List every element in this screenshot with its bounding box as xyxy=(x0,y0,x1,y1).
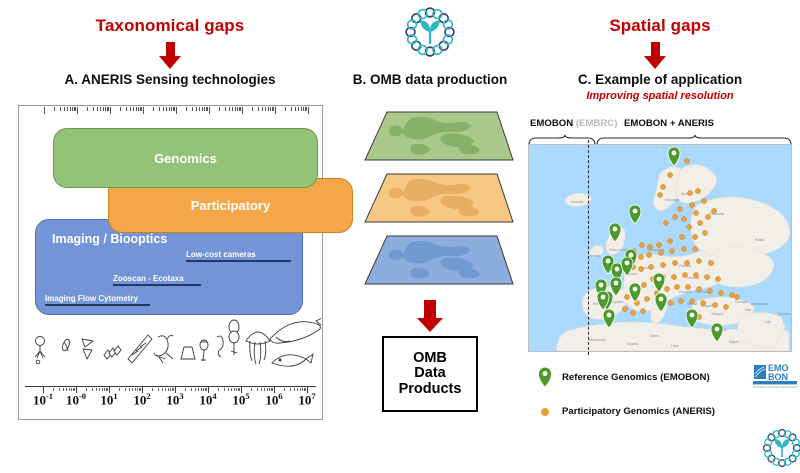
ruler-minor-tick xyxy=(100,107,101,111)
ruler-minor-tick xyxy=(204,107,205,111)
ruler-minor-tick xyxy=(258,107,259,111)
svg-text:Turkmenistán: Turkmenistán xyxy=(777,312,791,316)
ruler-minor-tick xyxy=(192,107,193,111)
ruler-tick xyxy=(77,107,78,114)
svg-text:Irak: Irak xyxy=(745,308,751,312)
map-legend: Reference Genomics (EMOBON) EMO BON xyxy=(538,362,788,432)
organism-salp xyxy=(229,320,239,355)
panel-a-sensing-technologies: Taxonomical gaps A. ANERIS Sensing techn… xyxy=(0,0,340,450)
bracket-label-embrc-muted: (EMBRC) xyxy=(576,118,618,129)
ruler-minor-tick xyxy=(87,107,88,111)
ruler-minor-tick xyxy=(229,107,230,111)
emobon-logo: EMO BON EUROPEAN MARINE OMICS BIODIVERSI… xyxy=(752,362,798,395)
sub-item-zooscan-ecotaxa-label: Zooscan - Ecotaxa xyxy=(113,274,205,283)
ruler-minor-tick xyxy=(219,107,220,111)
organism-appendicularian xyxy=(200,340,208,361)
map-canvas: Islandia Reino Unido Irlanda Noruega Sue… xyxy=(529,145,791,351)
ruler-minor-tick xyxy=(93,107,94,111)
axis-label-1: 10-0 xyxy=(66,391,86,408)
sub-item-zooscan-ecotaxa: Zooscan - Ecotaxa xyxy=(113,274,205,286)
svg-text:Argelia: Argelia xyxy=(627,342,638,346)
ruler-minor-tick xyxy=(153,107,154,111)
ruler-minor-tick xyxy=(237,107,238,111)
omb-flow-arrow xyxy=(417,300,443,332)
organism-silhouettes xyxy=(20,311,321,383)
ruler-minor-tick xyxy=(268,107,269,111)
axis-label-7: 106 xyxy=(265,391,282,408)
ruler-minor-tick xyxy=(235,107,236,111)
ruler-minor-tick xyxy=(285,107,286,111)
europe-sampling-map[interactable]: Islandia Reino Unido Irlanda Noruega Sue… xyxy=(528,144,792,352)
taxonomical-gaps-arrow xyxy=(159,42,181,69)
sub-item-imaging-flow-cytometry: Imaging Flow Cytometry xyxy=(45,294,155,306)
axis-label-2: 101 xyxy=(100,391,117,408)
aneris-logo-legend xyxy=(762,428,800,473)
ruler-minor-tick xyxy=(171,107,172,111)
organism-fish-larva xyxy=(217,336,223,357)
ruler-minor-tick xyxy=(103,107,104,111)
chart-x-axis xyxy=(25,386,316,387)
panel-b-omb-data-production: B. OMB data production xyxy=(340,0,520,450)
ruler-tick xyxy=(44,107,45,114)
orange-map-layer xyxy=(345,172,515,228)
ruler-tick xyxy=(209,107,210,114)
omb-map-layers xyxy=(340,110,520,290)
svg-text:Libia: Libia xyxy=(671,344,679,348)
chart-top-ruler xyxy=(20,107,321,115)
ruler-minor-tick xyxy=(136,107,137,111)
ruler-tick xyxy=(308,107,309,114)
ruler-minor-tick xyxy=(105,107,106,111)
organism-bacteria xyxy=(61,338,71,351)
ruler-minor-tick xyxy=(169,107,170,111)
sensing-technologies-chart: Genomics Participatory Imaging / Bioopti… xyxy=(18,105,323,420)
panel-c-subtitle: Improving spatial resolution xyxy=(520,90,800,102)
tech-box-imaging-biooptics[interactable]: Imaging / Biooptics Low-cost cameras Zoo… xyxy=(35,219,303,315)
ruler-minor-tick xyxy=(120,107,121,111)
ruler-minor-tick xyxy=(298,107,299,111)
svg-text:Irán: Irán xyxy=(765,320,771,324)
ruler-tick xyxy=(242,107,243,114)
sub-item-low-cost-cameras-bar xyxy=(186,260,291,262)
axis-label-5: 104 xyxy=(199,391,216,408)
omb-box-line2: Data xyxy=(414,366,445,382)
organism-diatom xyxy=(104,346,121,359)
ruler-minor-tick xyxy=(133,107,134,111)
omb-box-line1: OMB xyxy=(413,351,447,367)
ruler-minor-tick xyxy=(186,107,187,111)
svg-text:Turquía: Turquía xyxy=(711,312,723,316)
svg-text:Islandia: Islandia xyxy=(571,200,583,204)
ruler-minor-tick xyxy=(126,107,127,111)
organism-chaetognath xyxy=(128,335,152,363)
svg-text:Georgia: Georgia xyxy=(735,300,748,304)
svg-text:Azerbaiyán: Azerbaiyán xyxy=(751,302,769,306)
organism-flagellate xyxy=(82,339,93,359)
ruler-tick xyxy=(110,107,111,114)
panel-b-title: B. OMB data production xyxy=(340,72,520,87)
spatial-gaps-arrow xyxy=(644,42,666,69)
green-map-layer xyxy=(345,110,515,166)
tech-box-imaging-label: Imaging / Biooptics xyxy=(52,232,167,246)
legend-label-participatory-genomics: Participatory Genomics (ANERIS) xyxy=(562,406,715,417)
svg-text:Marruecos: Marruecos xyxy=(589,338,606,342)
svg-text:Irlanda: Irlanda xyxy=(589,254,600,258)
axis-label-3: 102 xyxy=(133,391,150,408)
tech-box-participatory-label: Participatory xyxy=(191,198,270,213)
axis-label-6: 105 xyxy=(232,391,249,408)
organism-fish xyxy=(272,354,313,366)
svg-text:EUROPEAN MARINE OMICS BIODIVER: EUROPEAN MARINE OMICS BIODIVERSITY OBSER… xyxy=(753,385,798,389)
ruler-minor-tick xyxy=(159,107,160,111)
omb-box-line3: Products xyxy=(399,382,462,398)
blue-map-layer xyxy=(345,234,515,290)
axis-label-8: 107 xyxy=(298,391,315,408)
svg-text:Hungría: Hungría xyxy=(679,290,692,294)
organism-krill xyxy=(154,335,173,363)
chart-x-axis-labels: 10-110-0101102103104105106107 xyxy=(19,391,322,421)
ruler-minor-tick xyxy=(301,107,302,111)
ruler-minor-tick xyxy=(60,107,61,111)
ruler-minor-tick xyxy=(67,107,68,111)
ruler-minor-tick xyxy=(196,107,197,111)
panel-c-title: C. Example of application xyxy=(520,72,800,87)
legend-label-reference-genomics: Reference Genomics (EMOBON) xyxy=(562,372,710,383)
organism-whale xyxy=(270,317,321,343)
taxonomical-gaps-title: Taxonomical gaps xyxy=(0,16,340,36)
svg-text:Noruega: Noruega xyxy=(665,198,679,202)
ruler-minor-tick xyxy=(265,107,266,111)
svg-text:BON: BON xyxy=(768,372,788,382)
axis-label-0: 10-1 xyxy=(33,391,53,408)
sub-item-imaging-flow-cytometry-bar xyxy=(45,304,150,306)
organism-virus xyxy=(35,337,45,364)
sub-item-zooscan-ecotaxa-bar xyxy=(113,284,201,286)
axis-label-4: 103 xyxy=(166,391,183,408)
ruler-minor-tick xyxy=(202,107,203,111)
sub-item-low-cost-cameras-label: Low-cost cameras xyxy=(186,250,294,259)
map-pin-icon xyxy=(538,367,552,387)
organism-larvae xyxy=(181,347,195,359)
ruler-minor-tick xyxy=(225,107,226,111)
spatial-gaps-title: Spatial gaps xyxy=(520,16,800,36)
svg-text:Egipto: Egipto xyxy=(729,340,739,344)
ruler-minor-tick xyxy=(232,107,233,111)
tech-box-genomics[interactable]: Genomics xyxy=(53,128,318,188)
ruler-minor-tick xyxy=(199,107,200,111)
ruler-minor-tick xyxy=(252,107,253,111)
bracket-label-emobon: EMOBON (EMBRC) xyxy=(530,118,617,129)
svg-text:Túnez: Túnez xyxy=(649,334,659,338)
ruler-minor-tick xyxy=(163,107,164,111)
panel-a-title: A. ANERIS Sensing technologies xyxy=(0,72,340,87)
ruler-tick xyxy=(275,107,276,114)
ruler-minor-tick xyxy=(70,107,71,111)
sub-item-imaging-flow-cytometry-label: Imaging Flow Cytometry xyxy=(45,294,155,303)
svg-text:Rusia: Rusia xyxy=(755,238,764,242)
ruler-minor-tick xyxy=(64,107,65,111)
ruler-tick xyxy=(143,107,144,114)
tech-box-genomics-label: Genomics xyxy=(154,151,217,166)
ruler-tick xyxy=(176,107,177,114)
ruler-minor-tick xyxy=(295,107,296,111)
sub-item-low-cost-cameras: Low-cost cameras xyxy=(186,250,294,262)
ruler-minor-tick xyxy=(54,107,55,111)
ruler-minor-tick xyxy=(97,107,98,111)
ruler-minor-tick xyxy=(130,107,131,111)
legend-row-reference-genomics: Reference Genomics (EMOBON) EMO BON xyxy=(538,362,788,392)
bracket-label-emobon-main: EMOBON xyxy=(530,118,573,129)
ruler-minor-tick xyxy=(270,107,271,111)
organism-jellyfish xyxy=(246,332,270,364)
ruler-minor-tick xyxy=(72,107,73,111)
ruler-minor-tick xyxy=(166,107,167,111)
panel-c-example-of-application: Spatial gaps C. Example of application I… xyxy=(520,0,800,450)
ruler-minor-tick xyxy=(138,107,139,111)
map-vertical-divider xyxy=(588,140,589,355)
ruler-minor-tick xyxy=(303,107,304,111)
map-section-labels: EMOBON (EMBRC) EMOBON + ANERIS xyxy=(520,118,800,134)
ruler-minor-tick xyxy=(291,107,292,111)
dot-icon xyxy=(538,401,552,421)
ruler-minor-tick xyxy=(262,107,263,111)
bracket-label-emobon-aneris: EMOBON + ANERIS xyxy=(624,118,714,129)
aneris-logo-header xyxy=(404,6,456,63)
omb-data-products-box[interactable]: OMB Data Products xyxy=(382,336,478,412)
legend-row-participatory-genomics: Participatory Genomics (ANERIS) xyxy=(538,396,788,426)
